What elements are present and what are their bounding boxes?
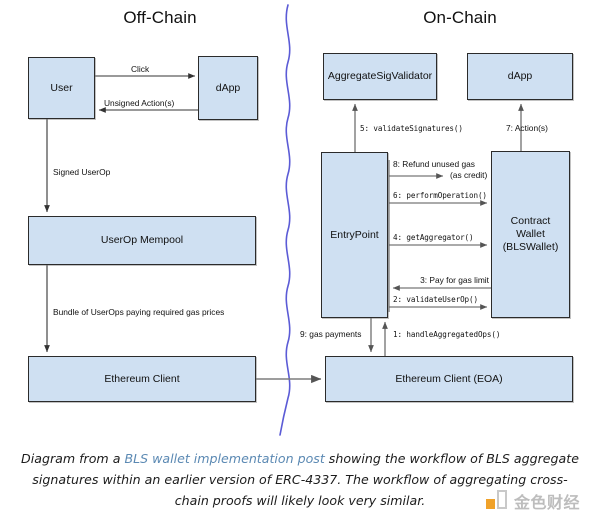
chain-divider-wave <box>280 5 290 435</box>
watermark-text: 金色财经 <box>514 489 580 513</box>
node-dapp-offchain[interactable]: dApp <box>198 56 258 120</box>
edge-label-unsigned-actions: Unsigned Action(s) <box>104 98 174 109</box>
edge-label-step2-validate-userop: 2: validateUserOp() <box>393 294 478 305</box>
node-entrypoint[interactable]: EntryPoint <box>321 152 388 318</box>
edge-label-step7-actions: 7: Action(s) <box>506 123 548 134</box>
node-ethereum-client-eoa[interactable]: Ethereum Client (EOA) <box>325 356 573 402</box>
section-heading-off-chain: Off-Chain <box>70 8 250 28</box>
edge-label-signed-userop: Signed UserOp <box>53 167 110 178</box>
node-contract-wallet[interactable]: Contract Wallet (BLSWallet) <box>491 151 570 318</box>
edge-label-step5-validate-signatures: 5: validateSignatures() <box>360 123 463 134</box>
node-ethereum-client[interactable]: Ethereum Client <box>28 356 256 402</box>
edge-label-bundle-of-userops: Bundle of UserOps paying required gas pr… <box>53 307 224 318</box>
contract-wallet-line-1: Contract <box>511 215 551 227</box>
edge-label-step1-handle-aggregated-ops: 1: handleAggregatedOps() <box>393 329 500 340</box>
edge-label-click: Click <box>131 64 149 75</box>
edge-label-step8-as-credit: (as credit) <box>450 170 487 181</box>
contract-wallet-line-2: Wallet <box>516 228 545 240</box>
node-contract-wallet-label: Contract Wallet (BLSWallet) <box>503 215 559 254</box>
node-aggregate-sig-validator[interactable]: AggregateSigValidator <box>323 53 437 100</box>
node-user[interactable]: User <box>28 57 95 119</box>
diagram-canvas: Off-Chain On-Chain User dApp UserOp Memp… <box>0 0 600 440</box>
edge-label-step4-get-aggregator: 4: getAggregator() <box>393 232 474 243</box>
contract-wallet-line-3: (BLSWallet) <box>503 241 559 253</box>
edge-label-step9-gas-payments: 9: gas payments <box>300 329 361 340</box>
node-userop-mempool[interactable]: UserOp Mempool <box>28 216 256 265</box>
node-dapp-onchain[interactable]: dApp <box>467 53 573 100</box>
edge-label-step6-perform-operation: 6: performOperation() <box>393 190 487 201</box>
watermark-logo-icon <box>486 490 509 512</box>
watermark: 金色财经 <box>486 488 590 514</box>
caption-text-part1: Diagram from a <box>21 451 124 466</box>
section-heading-on-chain: On-Chain <box>370 8 550 28</box>
edge-label-step3-pay-for-gas-limit: 3: Pay for gas limit <box>389 275 489 286</box>
edge-label-step8-refund-unused-gas: 8: Refund unused gas <box>393 159 475 170</box>
caption-link-bls-wallet-post[interactable]: BLS wallet implementation post <box>124 451 324 466</box>
